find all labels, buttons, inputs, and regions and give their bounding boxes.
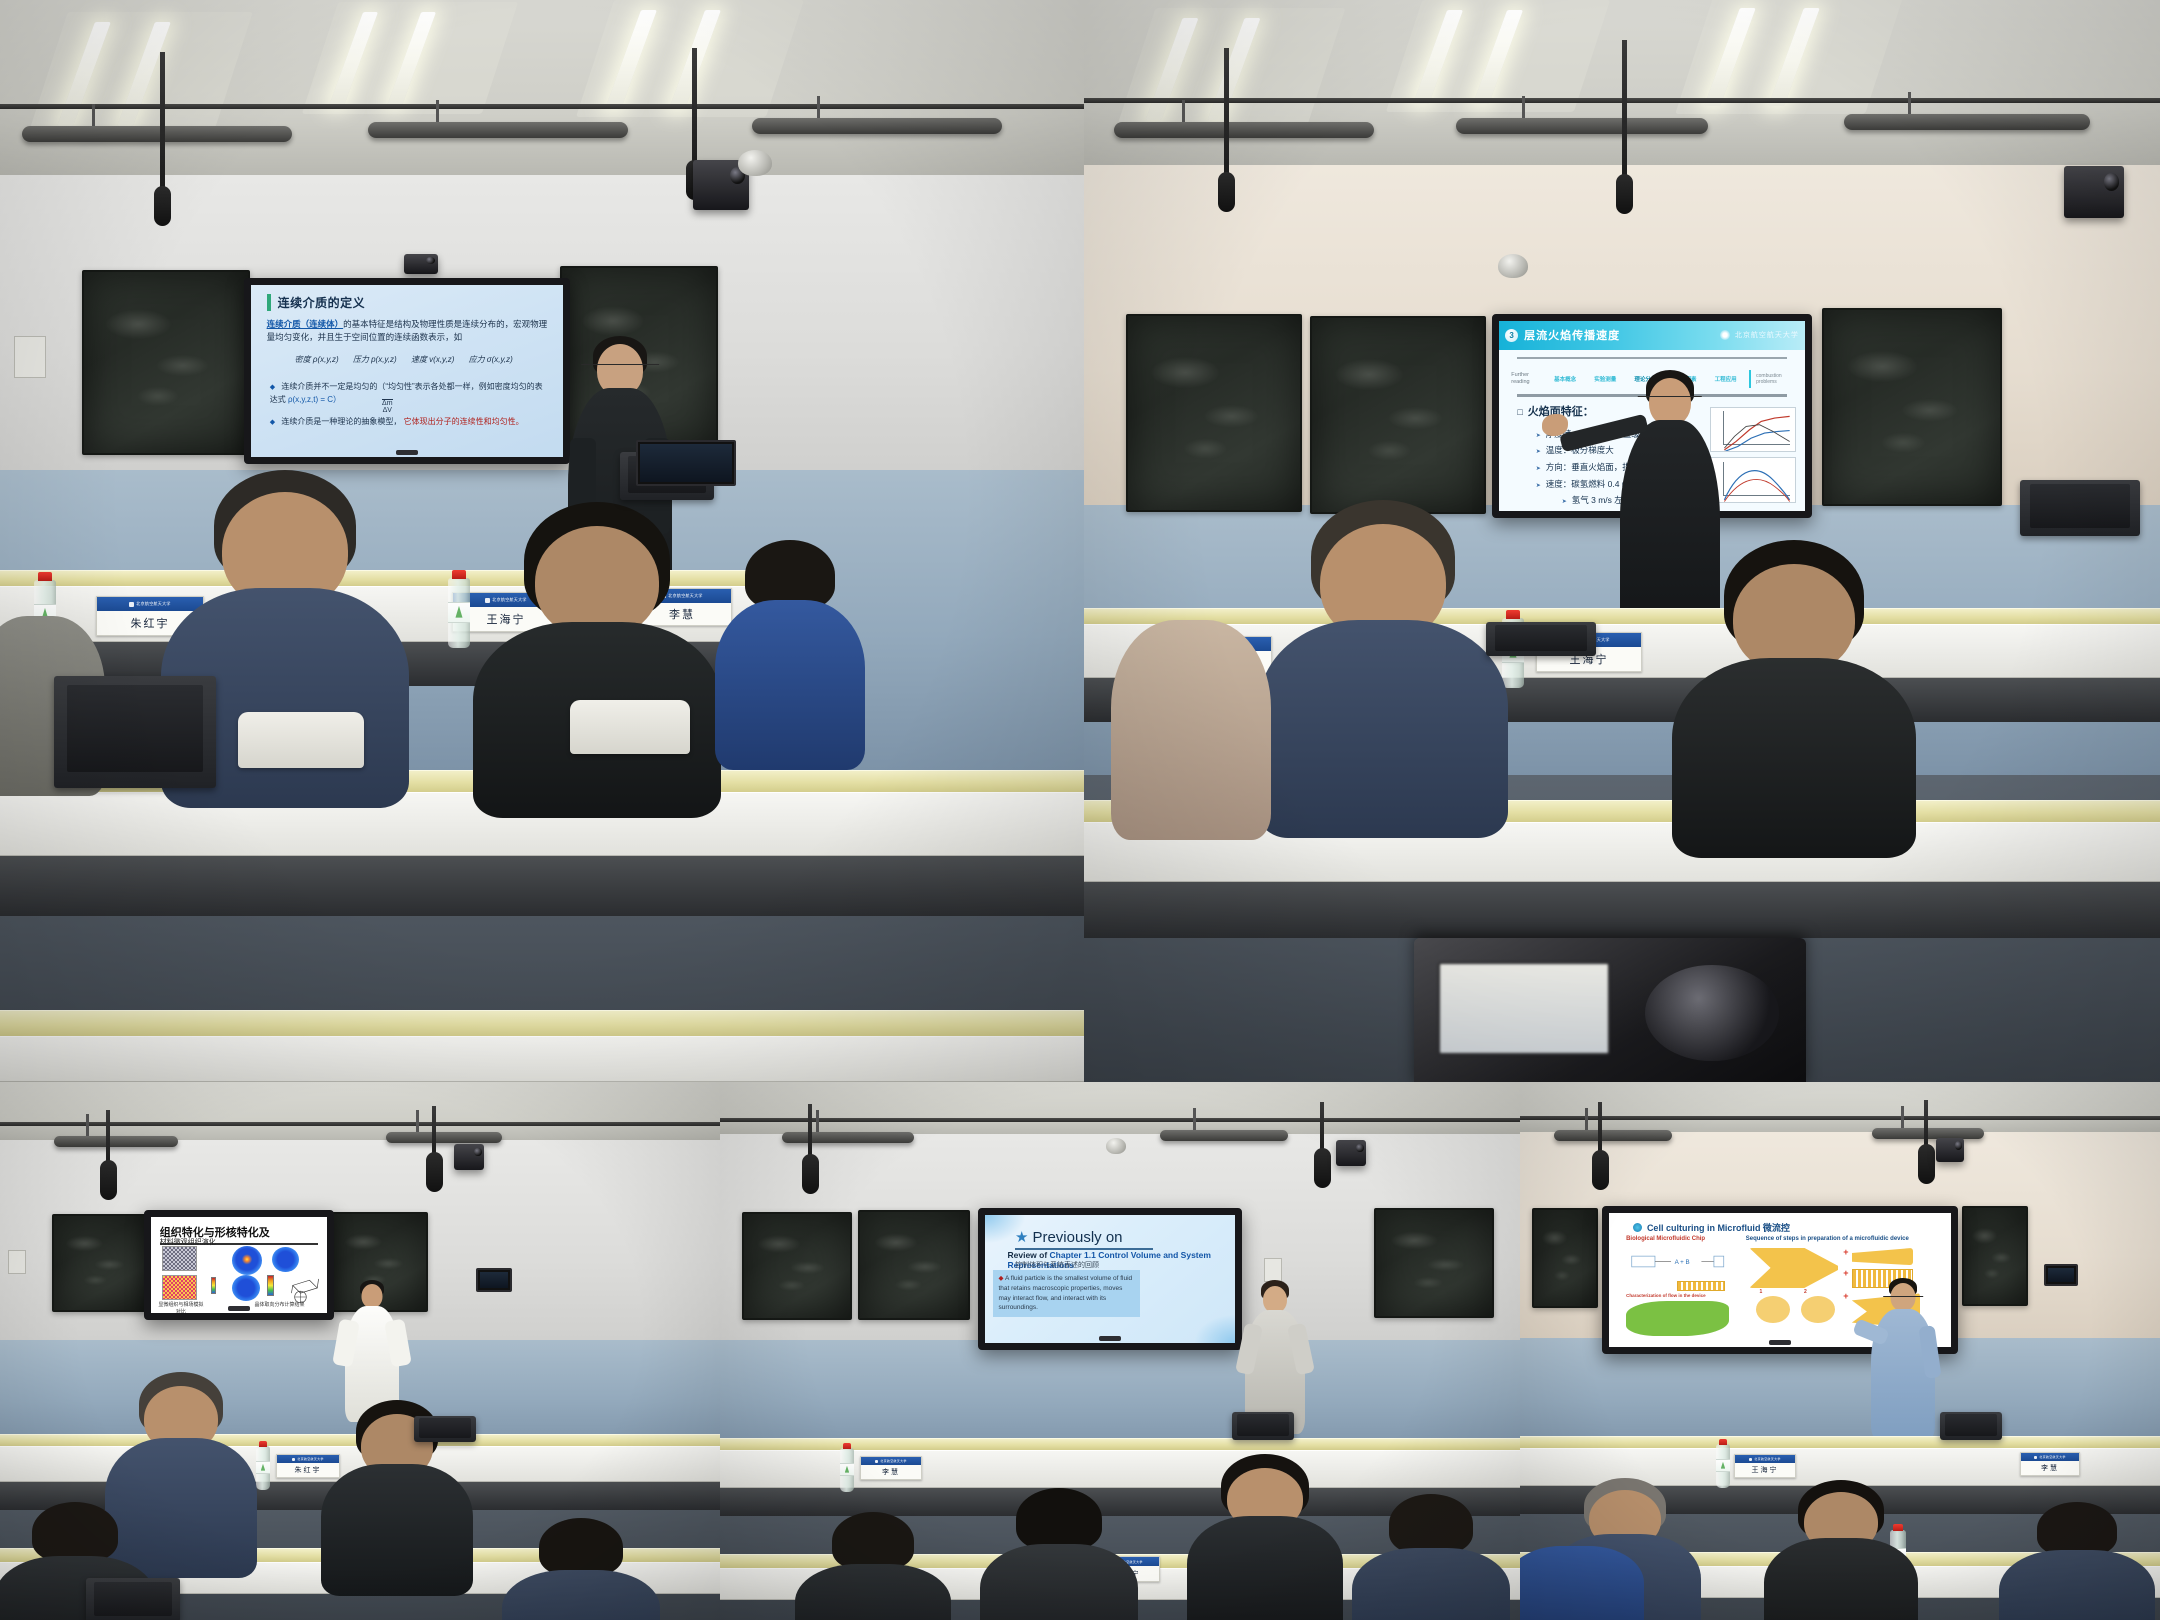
ceiling-speaker <box>386 1132 502 1143</box>
slide-microstructure: 组织特化与形核特化及 材料微观组织演化 显微组织与相场模拟对比 晶体取向分布计算… <box>151 1217 327 1313</box>
blackboard-right <box>1962 1206 2028 1306</box>
dome-camera <box>1498 254 1528 278</box>
highlight-box: ◆ A fluid particle is the smallest volum… <box>993 1270 1141 1317</box>
ceiling-camera <box>454 1144 484 1170</box>
ceiling-speaker <box>1160 1130 1288 1141</box>
nav-divider-top <box>1517 357 1786 359</box>
university-logo-icon <box>2034 1456 2037 1459</box>
water-bottle <box>1716 1444 1730 1488</box>
bullet-2-emphasis: 它体现出分子的连续性和均匀性。 <box>404 417 524 426</box>
photo-panel-top-left: 连续介质的定义 连续介质（连续体）的基本特征是结构及物理性质是连续分布的，宏观物… <box>0 0 1084 1082</box>
droplet-1 <box>1756 1296 1790 1323</box>
presenter-figure <box>1870 1278 1936 1438</box>
ceiling-light-fixture <box>605 6 775 111</box>
slide-paragraph-lead: 连续介质（连续体） <box>267 319 344 329</box>
chair-back <box>238 712 364 768</box>
laptop[interactable] <box>86 1578 180 1620</box>
placard-university: 北京航空航天大学 <box>2021 1453 2079 1461</box>
hanging-microphone <box>106 1110 110 1166</box>
photo-panel-bottom-left: 组织特化与形核特化及 材料微观组织演化 显微组织与相场模拟对比 晶体取向分布计算… <box>0 1082 720 1620</box>
droplet-2 <box>1801 1296 1835 1323</box>
laptop[interactable] <box>1486 622 1596 656</box>
wall-control-panel <box>14 336 46 378</box>
university-logo-icon <box>129 602 134 607</box>
highlight-marker: ◆ <box>999 1275 1004 1282</box>
ceiling-speaker <box>1114 122 1374 138</box>
collage-top-row: 连续介质的定义 连续介质（连续体）的基本特征是结构及物理性质是连续分布的，宏观物… <box>0 0 2160 1082</box>
slide-title: Cell culturing in Microfluid 微流控 <box>1633 1221 1790 1234</box>
placard-name: 王海宁 <box>1735 1463 1795 1477</box>
ceiling-speaker <box>54 1136 178 1147</box>
placard-name: 李慧 <box>2021 1461 2079 1475</box>
crystal-lattice-diagram <box>285 1271 324 1304</box>
star-icon: ★ <box>1015 1229 1028 1246</box>
water-bottle <box>840 1448 854 1492</box>
ceiling-light-fixture <box>1414 6 1582 106</box>
formula-item: 应力 σ(x,y,z) <box>469 354 513 365</box>
nav-separator <box>1749 370 1751 387</box>
hanging-microphone <box>160 52 165 192</box>
blackboard-right <box>1374 1208 1494 1318</box>
pointing-hand <box>1542 414 1568 436</box>
collage-bottom-row: 组织特化与形核特化及 材料微观组织演化 显微组织与相场模拟对比 晶体取向分布计算… <box>0 1082 2160 1620</box>
hanging-microphone <box>432 1106 436 1158</box>
review-label: Review of <box>1008 1250 1050 1260</box>
equation-denominator: ΔV <box>382 407 393 415</box>
name-placard: 北京航空航天大学 王海宁 <box>1734 1454 1796 1478</box>
audience-member <box>1116 600 1266 840</box>
simulation-plot-3 <box>232 1275 260 1301</box>
flow-illustration <box>1626 1301 1729 1336</box>
ceiling-speaker <box>752 118 1002 134</box>
schematic-formula: A + B <box>1626 1249 1729 1276</box>
microchannel-main <box>1749 1248 1838 1288</box>
ceiling-speaker <box>1872 1128 1984 1139</box>
chapter-badge: 3 <box>1505 329 1518 342</box>
audience-member <box>506 1518 656 1620</box>
audience-member <box>798 1512 948 1620</box>
university-brand: 北京航空航天大学 <box>1720 330 1799 340</box>
presenter-figure <box>344 1278 400 1418</box>
placard-university: 北京航空航天大学 <box>861 1457 921 1465</box>
blackboard-mid <box>858 1210 970 1320</box>
svg-text:A + B: A + B <box>1675 1259 1690 1266</box>
audience-member <box>1766 1480 1916 1620</box>
hanging-microphone <box>1320 1102 1324 1154</box>
wall-monitor[interactable] <box>2044 1264 2078 1286</box>
highlight-text: A fluid particle is the smallest volume … <box>999 1275 1133 1311</box>
name-placard: 北京航空航天大学 李慧 <box>860 1456 922 1480</box>
camera-lens-icon <box>1645 965 1778 1061</box>
photo-panel-bottom-middle: ★Previously on Review of Chapter 1.1 Con… <box>720 1082 1520 1620</box>
slide-line-2: 控制体积与系统表述的回顾 <box>1015 1260 1223 1270</box>
slide-title: ★Previously on <box>1015 1228 1153 1250</box>
audience-member <box>720 540 860 760</box>
audience-member <box>1674 540 1914 840</box>
bullet-2-text: 连续介质是一种理论的抽象模型， <box>281 417 401 426</box>
microstructure-image-grey <box>162 1246 197 1271</box>
plus-icon: + <box>1843 1268 1848 1278</box>
audience-member <box>2002 1502 2152 1620</box>
slide-previously-on: ★Previously on Review of Chapter 1.1 Con… <box>985 1215 1235 1343</box>
presentation-display[interactable]: 连续介质的定义 连续介质（连续体）的基本特征是结构及物理性质是连续分布的，宏观物… <box>244 278 570 464</box>
presentation-display[interactable]: 组织特化与形核特化及 材料微观组织演化 显微组织与相场模拟对比 晶体取向分布计算… <box>144 1210 334 1320</box>
hanging-microphone <box>1598 1102 1602 1156</box>
ceiling-light-fixture <box>1704 4 1874 108</box>
ceiling-camera <box>1936 1138 1964 1162</box>
slide-header: 3 层流火焰传播速度 北京航空航天大学 <box>1499 321 1805 350</box>
laptop[interactable] <box>1940 1412 2002 1440</box>
slide-formula-row: 密度 ρ(x,y,z) 压力 p(x,y,z) 速度 v(x,y,z) 应力 σ… <box>295 354 532 365</box>
plus-icon: + <box>1843 1291 1848 1301</box>
slide-continuous-medium: 连续介质的定义 连续介质（连续体）的基本特征是结构及物理性质是连续分布的，宏观物… <box>251 285 563 457</box>
laptop[interactable] <box>414 1416 476 1442</box>
colorbar-small <box>211 1277 216 1294</box>
slide-plot-group <box>1710 407 1796 504</box>
slide-title: 层流火焰传播速度 <box>1524 327 1620 343</box>
university-logo-icon <box>292 1458 295 1461</box>
step-number: 2 <box>1804 1289 1807 1295</box>
university-logo-icon <box>1749 1458 1752 1461</box>
monitor[interactable] <box>636 440 736 486</box>
camera-lcd-screen <box>1438 962 1610 1055</box>
hanging-microphone <box>1622 40 1627 180</box>
laptop[interactable] <box>1232 1412 1294 1440</box>
ceiling-speaker <box>368 122 628 138</box>
slide-bullet-2: 连续介质是一种理论的抽象模型， 它体现出分子的连续性和均匀性。 <box>270 416 548 429</box>
step-number: 1 <box>1759 1289 1762 1295</box>
ceiling-light-fixture <box>1146 14 1316 122</box>
blackboard-mid <box>1310 316 1486 514</box>
audience-member <box>984 1488 1134 1620</box>
blackboard-left <box>1126 314 1302 512</box>
wall-control-panel <box>8 1250 26 1274</box>
wall-monitor[interactable] <box>476 1268 512 1292</box>
audience-member <box>1258 500 1508 830</box>
caption-left: 显微组织与相场模拟对比 <box>156 1301 205 1313</box>
ceiling-speaker <box>1456 118 1708 134</box>
placard-name: 李慧 <box>861 1465 921 1479</box>
hanging-microphone <box>1924 1100 1928 1150</box>
slide-paragraph: 连续介质（连续体）的基本特征是结构及物理性质是连续分布的，宏观物理量均匀变化，并… <box>267 318 548 344</box>
ceiling-camera <box>2064 166 2124 218</box>
formula-item: 速度 v(x,y,z) <box>411 354 454 365</box>
blackboard-left <box>82 270 250 455</box>
laptop[interactable] <box>54 676 216 788</box>
strip-label: Characterization of flow in the device <box>1626 1293 1735 1298</box>
ceiling-speaker <box>1844 114 2090 130</box>
blackboard-left <box>742 1212 852 1320</box>
slide-bullet-1: 连续介质并不一定是均匀的（“均匀性”表示各处都一样，例如密度均匀的表达式 ρ(x… <box>270 381 548 406</box>
ceiling-light-fixture <box>330 8 490 108</box>
slide-title: 连续介质的定义 <box>267 294 366 311</box>
photo-panel-bottom-right: Cell culturing in Microfluid 微流控 Biologi… <box>1520 1082 2160 1620</box>
ceiling-camera <box>404 254 438 274</box>
ceiling-speaker <box>22 126 292 142</box>
formula-item: 密度 ρ(x,y,z) <box>295 354 339 365</box>
microstructure-image-color <box>162 1275 197 1300</box>
hanging-microphone <box>692 48 697 166</box>
dome-camera <box>738 150 772 176</box>
audience-member <box>1190 1454 1340 1620</box>
display-logo <box>1099 1336 1121 1341</box>
slide-subtitle-left: Biological Microfluidic Chip <box>1626 1236 1729 1242</box>
video-camera <box>1414 938 1806 1082</box>
hanging-microphone <box>1224 48 1229 178</box>
slide-equation: Δm ΔV <box>382 399 393 415</box>
colorbar <box>267 1275 274 1296</box>
nav-chip: 基本概念 <box>1548 375 1583 383</box>
formula-item: 压力 p(x,y,z) <box>353 354 397 365</box>
display-logo <box>228 1306 250 1311</box>
simulation-plot-2 <box>272 1247 298 1272</box>
presentation-display[interactable]: ★Previously on Review of Chapter 1.1 Con… <box>978 1208 1242 1350</box>
ceiling-light-fixture <box>58 18 223 128</box>
water-bottle <box>448 578 470 648</box>
ceiling-speaker <box>1554 1130 1672 1141</box>
university-seal-icon <box>1720 330 1730 340</box>
plot-upper <box>1710 407 1796 453</box>
audience-member <box>472 502 722 802</box>
presenter-figure <box>1244 1280 1306 1430</box>
bullet-1-tail: ρ(x,y,z,t) = C） <box>288 395 341 404</box>
plus-icon: + <box>1843 1247 1848 1257</box>
display-logo <box>396 450 418 455</box>
simulation-plot-1 <box>232 1246 262 1275</box>
hanging-microphone <box>808 1104 812 1160</box>
slide-subtitle-right: Sequence of steps in preparation of a mi… <box>1746 1236 1924 1242</box>
plot-lower <box>1710 457 1796 503</box>
gradient-strip <box>1677 1281 1725 1290</box>
display-logo <box>1769 1340 1791 1345</box>
photo-collage: 连续介质的定义 连续介质（连续体）的基本特征是结构及物理性质是连续分布的，宏观物… <box>0 0 2160 1620</box>
microchannel-branch <box>1852 1248 1914 1265</box>
blackboard-left <box>1532 1208 1598 1308</box>
nav-tail-label: combustion problems <box>1756 373 1793 385</box>
name-placard: 北京航空航天大学 李慧 <box>2020 1452 2080 1476</box>
audience-member <box>1520 1522 1640 1620</box>
ceiling-speaker <box>782 1132 914 1143</box>
water-bottle <box>256 1446 270 1490</box>
decorative-corner-bottom <box>1195 1315 1235 1343</box>
ceiling-camera <box>1336 1140 1366 1166</box>
equation-numerator: Δm <box>382 399 393 408</box>
blackboard-left <box>52 1214 148 1312</box>
university-logo-icon <box>875 1460 878 1463</box>
placard-university: 北京航空航天大学 <box>1735 1455 1795 1463</box>
audience-member <box>1356 1494 1506 1620</box>
photo-panel-top-right: 3 层流火焰传播速度 北京航空航天大学 Further reading 基本概念… <box>1084 0 2160 1082</box>
wall-control-panel <box>1264 1258 1282 1282</box>
blackboard-right <box>1822 308 2002 506</box>
chair-back <box>570 700 690 754</box>
nav-lead-label: Further reading <box>1511 372 1542 385</box>
laptop[interactable] <box>2020 480 2140 536</box>
dome-camera <box>1106 1138 1126 1154</box>
